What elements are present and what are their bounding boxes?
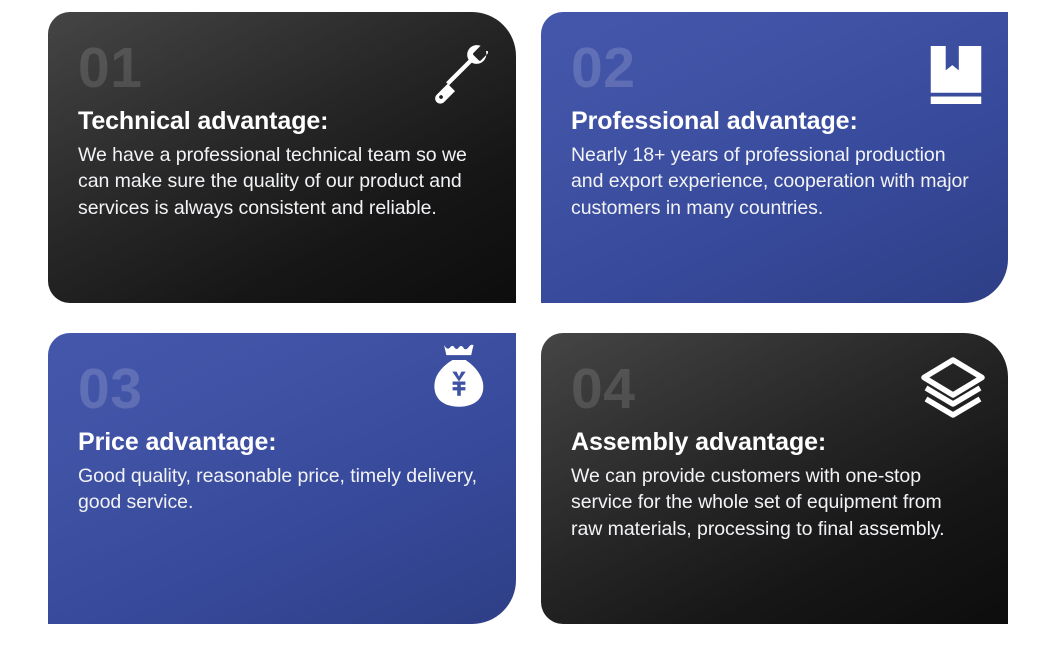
wrench-icon <box>430 40 492 106</box>
money-bag-yen-icon <box>430 343 488 409</box>
card-body-technical-advantage: We have a professional technical team so… <box>78 142 482 222</box>
card-title-technical-advantage: Technical advantage: <box>78 107 482 137</box>
card-number-03: 03 <box>78 361 482 418</box>
advantages-card-grid: 01 Technical advantage: We have a profes… <box>0 0 1060 665</box>
card-title-price-advantage: Price advantage: <box>78 428 482 458</box>
card-number-02: 02 <box>571 40 974 97</box>
card-title-professional-advantage: Professional advantage: <box>571 107 974 137</box>
card-body-price-advantage: Good quality, reasonable price, timely d… <box>78 463 482 516</box>
layers-icon <box>918 355 988 421</box>
book-bookmark-icon <box>927 44 985 106</box>
card-number-01: 01 <box>78 40 482 97</box>
advantage-card-4[interactable]: 04 Assembly advantage: We can provide cu… <box>541 333 1008 624</box>
advantage-card-2[interactable]: 02 Professional advantage: Nearly 18+ ye… <box>541 12 1008 303</box>
card-title-assembly-advantage: Assembly advantage: <box>571 428 974 458</box>
card-number-04: 04 <box>571 361 974 418</box>
advantage-card-3[interactable]: 03 Price advantage: Good quality, reason… <box>48 333 516 624</box>
card-body-assembly-advantage: We can provide customers with one-stop s… <box>571 463 974 543</box>
card-body-professional-advantage: Nearly 18+ years of professional product… <box>571 142 974 222</box>
advantage-card-1[interactable]: 01 Technical advantage: We have a profes… <box>48 12 516 303</box>
